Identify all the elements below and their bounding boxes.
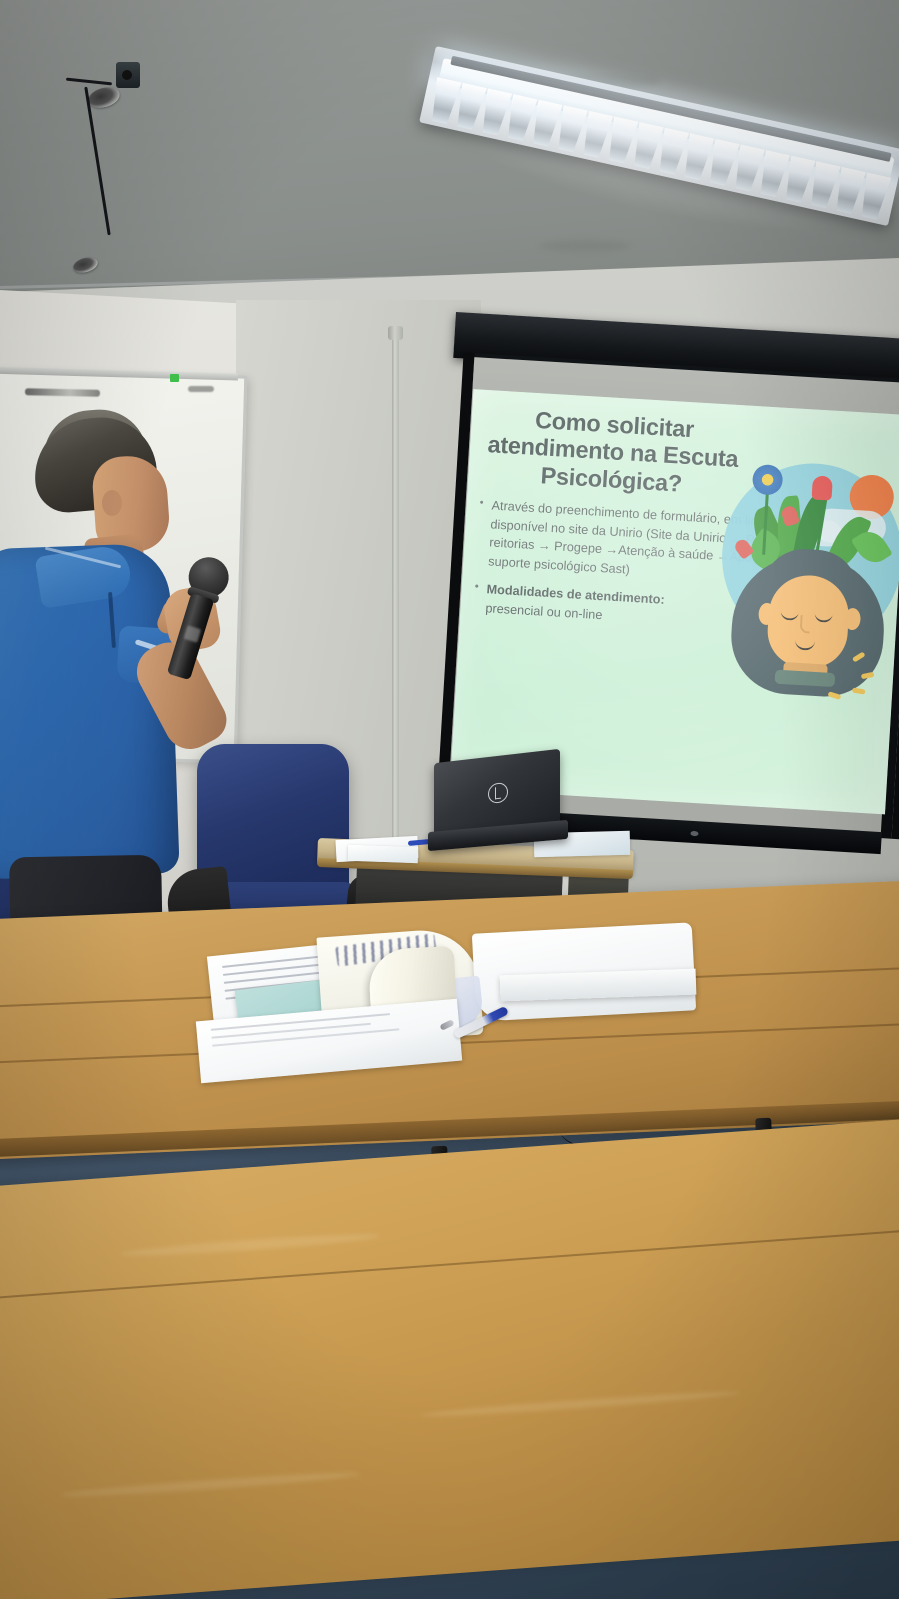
green-sticker-icon [170,374,179,382]
laptop[interactable] [428,756,568,856]
conduit-cap [388,326,403,340]
head-with-plants-illustration [700,440,899,703]
sparkle-dash-icon [861,672,875,680]
projected-slide: Como solicitar atendimento na Escuta Psi… [450,389,899,814]
tulip-flower-icon [812,475,833,500]
sparkle-dash-icon [852,688,866,695]
wall-conduit-pipe [392,330,399,900]
equipment-box-lens [122,70,132,80]
whiteboard-marker-residue [188,386,214,392]
nose [800,615,811,634]
podium-paper [348,845,419,863]
meeting-room-photo: Como solicitar atendimento na Escuta Psi… [0,0,899,1599]
conference-table-near [0,1115,899,1599]
ear [102,490,122,516]
ceiling-smudge [540,240,630,252]
